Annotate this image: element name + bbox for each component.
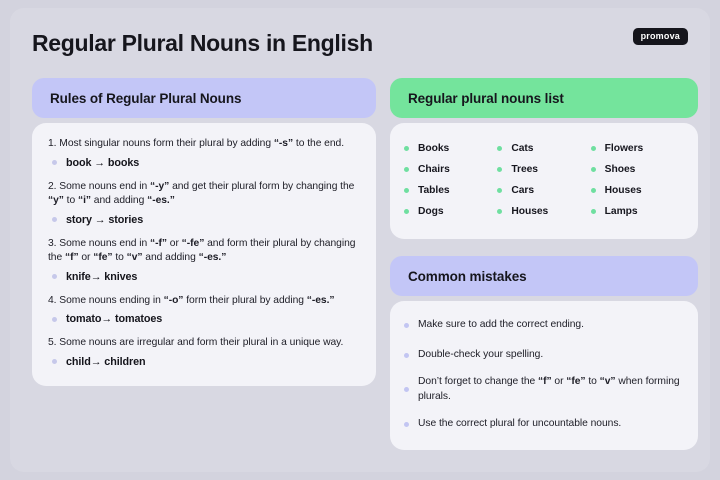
- bullet-dot-icon: [52, 359, 57, 364]
- infographic-page: Regular Plural Nouns in English promova …: [10, 8, 710, 472]
- list-item: Shoes: [591, 159, 684, 180]
- bullet-dot-icon: [591, 209, 596, 214]
- rule-example-text: knife→ knives: [66, 271, 137, 283]
- bullet-dot-icon: [497, 209, 502, 214]
- noun-label: Lamps: [605, 206, 638, 217]
- bullet-dot-icon: [404, 387, 409, 392]
- mistake-item: Make sure to add the correct ending.: [404, 315, 682, 335]
- bullet-dot-icon: [404, 146, 409, 151]
- mistakes-section-header: Common mistakes: [390, 256, 698, 296]
- rule-item: 5. Some nouns are irregular and form the…: [48, 336, 360, 368]
- list-item: Chairs: [404, 159, 497, 180]
- noun-label: Dogs: [418, 206, 444, 217]
- nouns-card: BooksChairsTablesDogsCatsTreesCarsHouses…: [390, 123, 698, 239]
- noun-label: Shoes: [605, 164, 636, 175]
- nouns-section-title: Regular plural nouns list: [408, 91, 564, 106]
- rule-example-text: tomato→ tomatoes: [66, 313, 162, 325]
- rule-item: 1. Most singular nouns form their plural…: [48, 137, 360, 169]
- mistakes-block: Common mistakes Make sure to add the cor…: [390, 256, 698, 450]
- bullet-dot-icon: [404, 353, 409, 358]
- bullet-dot-icon: [591, 188, 596, 193]
- list-item: Houses: [591, 180, 684, 201]
- bullet-dot-icon: [497, 146, 502, 151]
- bullet-dot-icon: [497, 167, 502, 172]
- bullet-dot-icon: [591, 167, 596, 172]
- noun-label: Cats: [511, 143, 533, 154]
- mistake-text: Use the correct plural for uncountable n…: [418, 417, 621, 432]
- rules-column: Rules of Regular Plural Nouns 1. Most si…: [32, 78, 376, 386]
- promova-logo: promova: [633, 28, 688, 45]
- nouns-column: FlowersShoesHousesLamps: [591, 138, 684, 222]
- rules-list: 1. Most singular nouns form their plural…: [48, 137, 360, 368]
- noun-label: Books: [418, 143, 449, 154]
- rule-text: 5. Some nouns are irregular and form the…: [48, 336, 360, 351]
- bullet-dot-icon: [591, 146, 596, 151]
- list-item: Dogs: [404, 201, 497, 222]
- list-item: Flowers: [591, 138, 684, 159]
- mistake-item: Double-check your spelling.: [404, 345, 682, 365]
- list-item: Cats: [497, 138, 590, 159]
- rule-text: 1. Most singular nouns form their plural…: [48, 137, 360, 152]
- bullet-dot-icon: [52, 274, 57, 279]
- bullet-dot-icon: [52, 217, 57, 222]
- rule-example: tomato→ tomatoes: [48, 313, 360, 325]
- mistake-text: Double-check your spelling.: [418, 348, 543, 363]
- mistakes-section-title: Common mistakes: [408, 269, 527, 284]
- bullet-dot-icon: [52, 160, 57, 165]
- noun-label: Trees: [511, 164, 538, 175]
- rule-item: 2. Some nouns end in “-y” and get their …: [48, 180, 360, 226]
- list-item: Lamps: [591, 201, 684, 222]
- bullet-dot-icon: [404, 209, 409, 214]
- noun-label: Flowers: [605, 143, 644, 154]
- list-item: Tables: [404, 180, 497, 201]
- rules-card: 1. Most singular nouns form their plural…: [32, 123, 376, 386]
- mistake-item: Use the correct plural for uncountable n…: [404, 414, 682, 434]
- rules-section-title: Rules of Regular Plural Nouns: [50, 91, 241, 106]
- bullet-dot-icon: [497, 188, 502, 193]
- nouns-section-header: Regular plural nouns list: [390, 78, 698, 118]
- bullet-dot-icon: [404, 167, 409, 172]
- rule-example-text: story → stories: [66, 214, 143, 226]
- noun-label: Cars: [511, 185, 534, 196]
- bullet-dot-icon: [404, 422, 409, 427]
- noun-label: Tables: [418, 185, 450, 196]
- rule-example: book → books: [48, 157, 360, 169]
- noun-label: Houses: [605, 185, 642, 196]
- bullet-dot-icon: [404, 323, 409, 328]
- list-item: Cars: [497, 180, 590, 201]
- rule-item: 4. Some nouns ending in “-o” form their …: [48, 294, 360, 326]
- list-item: Houses: [497, 201, 590, 222]
- header: Regular Plural Nouns in English promova: [32, 26, 692, 66]
- bullet-dot-icon: [404, 188, 409, 193]
- page-title: Regular Plural Nouns in English: [32, 26, 692, 60]
- rule-text: 3. Some nouns end in “-f” or “-fe” and f…: [48, 237, 360, 266]
- rule-text: 4. Some nouns ending in “-o” form their …: [48, 294, 360, 309]
- list-item: Books: [404, 138, 497, 159]
- rule-example: knife→ knives: [48, 271, 360, 283]
- mistake-text: Don’t forget to change the “f” or “fe” t…: [418, 375, 682, 404]
- mistakes-card: Make sure to add the correct ending.Doub…: [390, 301, 698, 450]
- nouns-column: BooksChairsTablesDogs: [404, 138, 497, 222]
- mistake-item: Don’t forget to change the “f” or “fe” t…: [404, 375, 682, 404]
- mistake-text: Make sure to add the correct ending.: [418, 318, 584, 333]
- rule-text: 2. Some nouns end in “-y” and get their …: [48, 180, 360, 209]
- nouns-column: CatsTreesCarsHouses: [497, 138, 590, 222]
- rule-example-text: child→ children: [66, 356, 146, 368]
- rule-example: child→ children: [48, 356, 360, 368]
- list-item: Trees: [497, 159, 590, 180]
- noun-label: Chairs: [418, 164, 450, 175]
- rule-example: story → stories: [48, 214, 360, 226]
- noun-label: Houses: [511, 206, 548, 217]
- rules-section-header: Rules of Regular Plural Nouns: [32, 78, 376, 118]
- bullet-dot-icon: [52, 317, 57, 322]
- rule-item: 3. Some nouns end in “-f” or “-fe” and f…: [48, 237, 360, 283]
- right-column: Regular plural nouns list BooksChairsTab…: [390, 78, 698, 450]
- rule-example-text: book → books: [66, 157, 139, 169]
